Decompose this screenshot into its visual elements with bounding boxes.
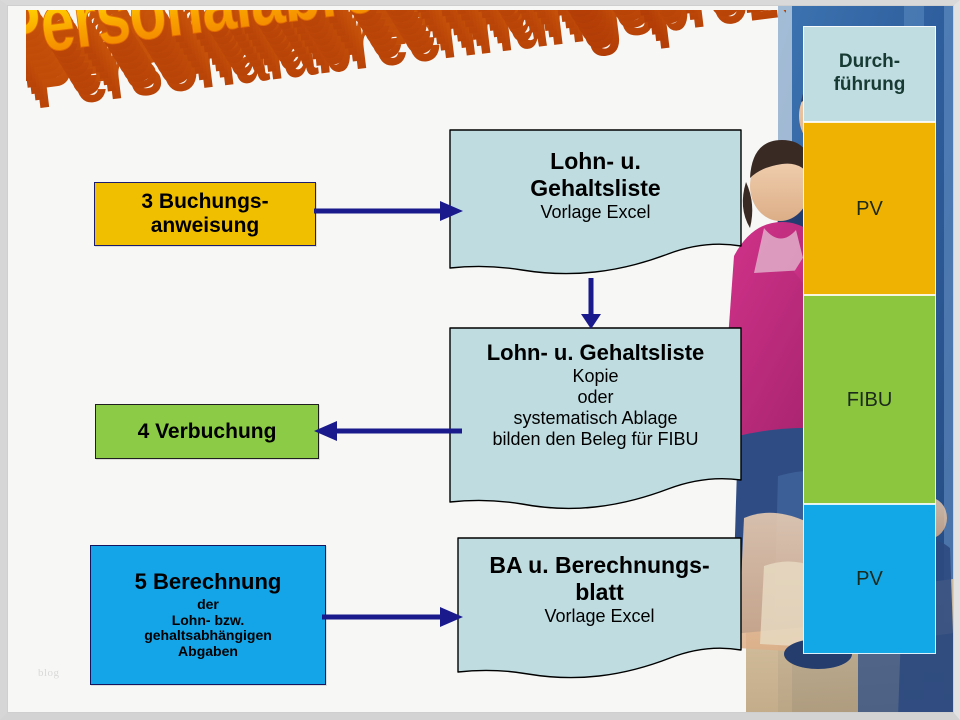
sidebar-item-label: PV bbox=[856, 567, 883, 591]
arrow-left-kopie-to-verbuchung bbox=[314, 418, 462, 444]
process-box-line: der bbox=[197, 597, 219, 613]
sidebar-item-pv-bottom[interactable]: PV bbox=[803, 504, 936, 654]
arrow-right-berechnung-to-ba-blatt bbox=[322, 604, 464, 630]
document-ba-u-berechnungsblatt[interactable]: BA u. Berechnungs- blatt Vorlage Excel bbox=[456, 536, 743, 684]
page-title-text: Personalabrechnungsprozess bbox=[26, 10, 786, 75]
svg-text:Personalabrechnungsprozess: Personalabrechnungsprozess bbox=[26, 10, 786, 100]
sidebar-header-line: führung bbox=[834, 74, 906, 95]
svg-text:Personalabrechnungsprozess: Personalabrechnungsprozess bbox=[26, 10, 786, 87]
sidebar-item-label: PV bbox=[856, 197, 883, 221]
sidebar-item-fibu[interactable]: FIBU bbox=[803, 295, 936, 504]
process-box-line: Abgaben bbox=[178, 644, 238, 660]
sidebar-header: Durch- führung bbox=[803, 26, 936, 122]
watermark-text: blog bbox=[38, 667, 60, 679]
process-box-line: 3 Buchungs- bbox=[141, 190, 268, 214]
process-box-line: Lohn- bzw. bbox=[172, 613, 245, 629]
process-box-line: gehaltsabhängigen bbox=[144, 628, 272, 644]
svg-text:Personalabrechnungsprozess: Personalabrechnungsprozess bbox=[28, 10, 786, 126]
process-box-line: 4 Verbuchung bbox=[138, 420, 277, 444]
svg-text:Personalabrechnungsprozess: Personalabrechnungsprozess bbox=[26, 10, 786, 119]
document-lohn-u-gehaltsliste[interactable]: Lohn- u. Gehaltsliste Vorlage Excel bbox=[448, 128, 743, 278]
sidebar-item-pv-top[interactable]: PV bbox=[803, 122, 936, 295]
svg-text:Personalabrechnungsprozess: Personalabrechnungsprozess bbox=[26, 10, 786, 106]
svg-text:Personalabrechnungsprozess: Personalabrechnungsprozess bbox=[26, 10, 786, 94]
process-box-verbuchung[interactable]: 4 Verbuchung bbox=[95, 404, 319, 459]
page-title: Personalabrechnungsprozess Personalabrec… bbox=[26, 10, 786, 130]
document-lohn-u-gehaltsliste-kopie[interactable]: Lohn- u. Gehaltsliste Kopie oder systema… bbox=[448, 326, 743, 514]
process-box-heading: 5 Berechnung bbox=[135, 570, 282, 595]
arrow-right-buchungsanweisung-to-lohnliste bbox=[314, 198, 464, 224]
sidebar-header-line: Durch- bbox=[839, 51, 900, 72]
process-box-line: anweisung bbox=[151, 214, 260, 238]
arrow-down-lohnliste-to-kopie bbox=[578, 278, 604, 330]
svg-text:Personalabrechnungsprozess: Personalabrechnungsprozess bbox=[26, 10, 786, 81]
process-box-buchungsanweisung[interactable]: 3 Buchungs- anweisung bbox=[94, 182, 316, 246]
slide-root: Personalabrechnungsprozess Personalabrec… bbox=[0, 0, 960, 720]
slide-canvas: Personalabrechnungsprozess Personalabrec… bbox=[8, 6, 953, 712]
svg-text:Personalabrechnungsprozess: Personalabrechnungsprozess bbox=[26, 10, 786, 112]
sidebar-item-label: FIBU bbox=[847, 388, 893, 412]
sidebar-durchfuehrung: Durch- führung PV FIBU PV bbox=[803, 26, 936, 654]
process-box-berechnung[interactable]: 5 Berechnung der Lohn- bzw. gehaltsabhän… bbox=[90, 545, 326, 685]
